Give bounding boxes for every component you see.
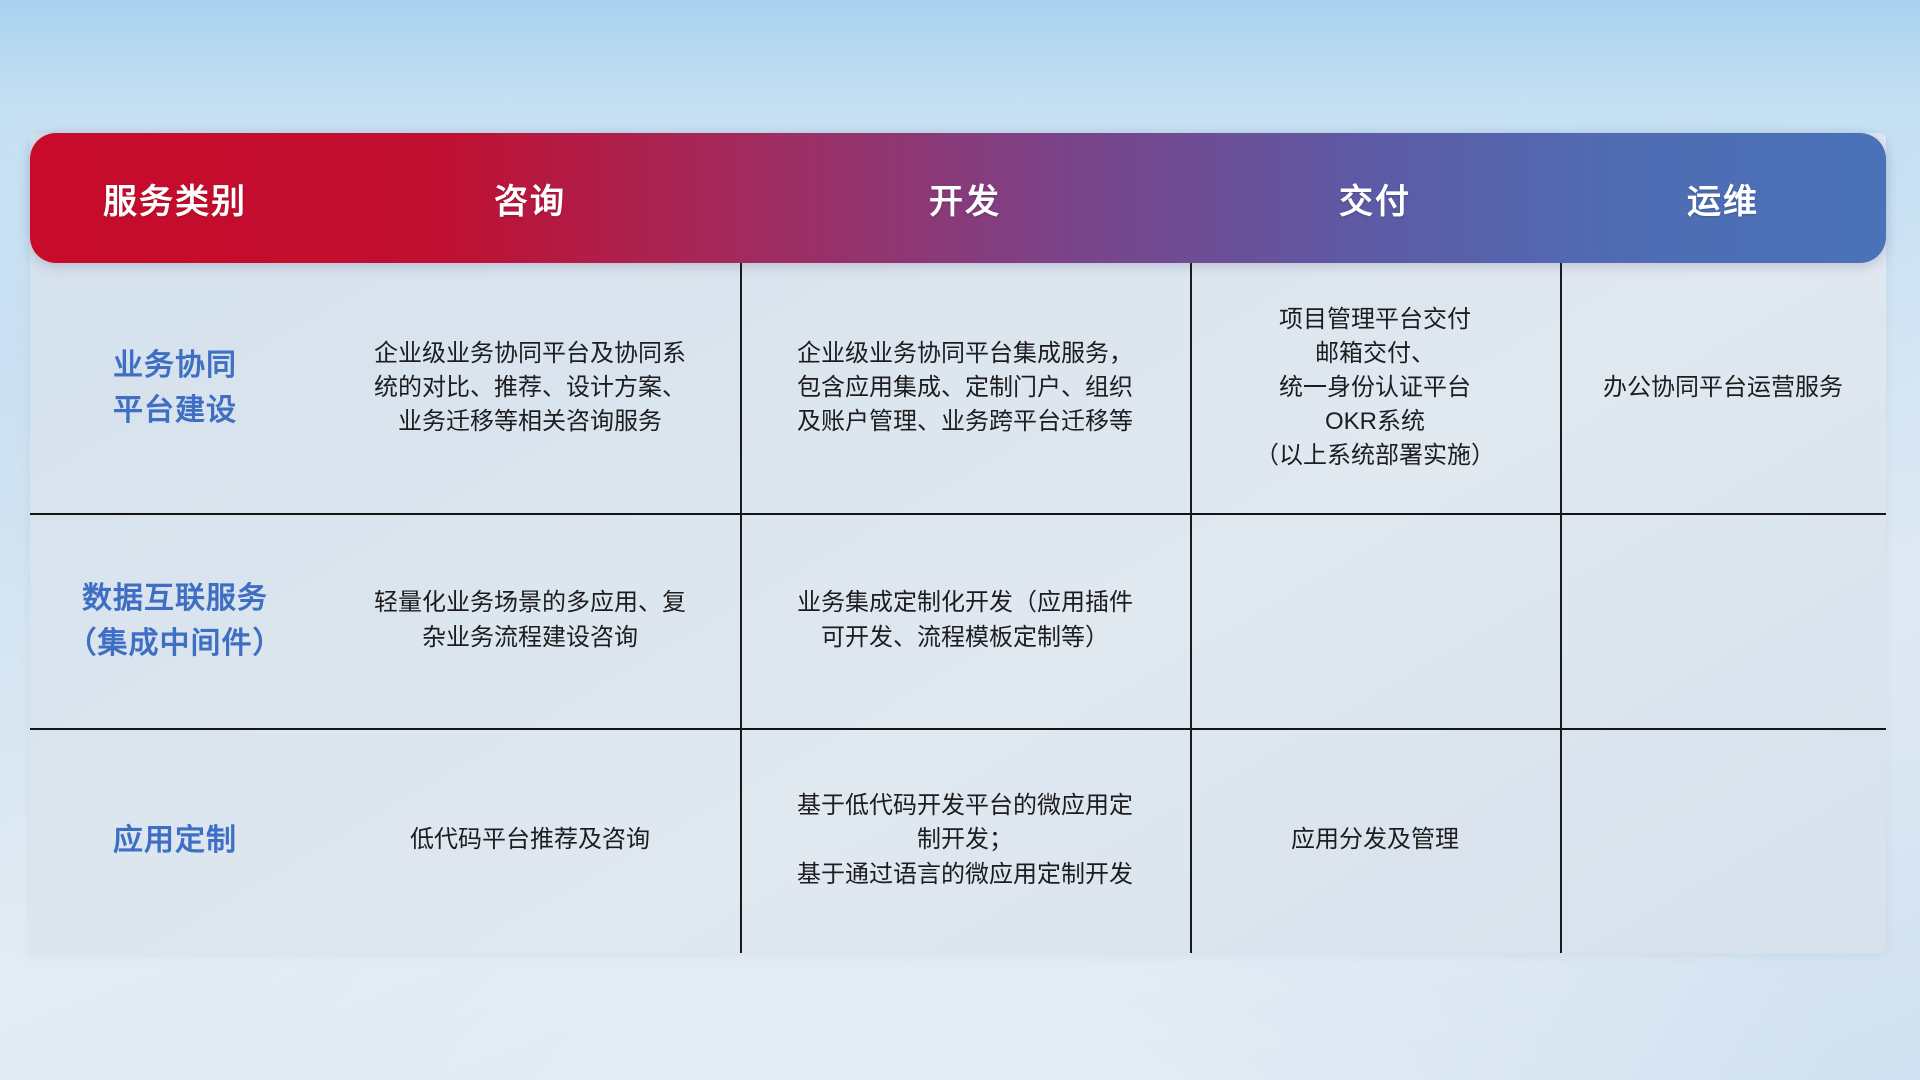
cell-delivery-row2 bbox=[1190, 513, 1560, 728]
row-label-data-integration: 数据互联服务 （集成中间件） bbox=[30, 513, 320, 728]
header-cell-development: 开发 bbox=[740, 174, 1190, 223]
header-cell-operations: 运维 bbox=[1560, 174, 1886, 223]
cell-delivery-row3: 应用分发及管理 bbox=[1190, 728, 1560, 953]
cell-operations-row1: 办公协同平台运营服务 bbox=[1560, 263, 1886, 513]
row-label-business-collaboration: 业务协同 平台建设 bbox=[30, 263, 320, 513]
cell-development-row3: 基于低代码开发平台的微应用定 制开发； 基于通过语言的微应用定制开发 bbox=[740, 728, 1190, 953]
header-cell-delivery: 交付 bbox=[1190, 174, 1560, 223]
table-row: 应用定制 低代码平台推荐及咨询 基于低代码开发平台的微应用定 制开发； 基于通过… bbox=[30, 728, 1886, 953]
row-label-app-customization: 应用定制 bbox=[30, 728, 320, 953]
header-cell-category: 服务类别 bbox=[30, 174, 320, 223]
column-divider-consulting-development bbox=[740, 263, 742, 953]
column-divider-development-delivery bbox=[1190, 263, 1192, 953]
table-body: 业务协同 平台建设 企业级业务协同平台及协同系 统的对比、推荐、设计方案、 业务… bbox=[30, 263, 1886, 953]
table-row: 业务协同 平台建设 企业级业务协同平台及协同系 统的对比、推荐、设计方案、 业务… bbox=[30, 263, 1886, 513]
cell-consulting-row1: 企业级业务协同平台及协同系 统的对比、推荐、设计方案、 业务迁移等相关咨询服务 bbox=[320, 263, 740, 513]
slide-canvas: 服务类别 咨询 开发 交付 运维 业务协同 平台建设 企业级业务协同平台及协同系… bbox=[0, 0, 1920, 1080]
cell-development-row1: 企业级业务协同平台集成服务， 包含应用集成、定制门户、组织 及账户管理、业务跨平… bbox=[740, 263, 1190, 513]
cell-development-row2: 业务集成定制化开发（应用插件 可开发、流程模板定制等） bbox=[740, 513, 1190, 728]
cell-consulting-row3: 低代码平台推荐及咨询 bbox=[320, 728, 740, 953]
cell-operations-row3 bbox=[1560, 728, 1886, 953]
cell-operations-row2 bbox=[1560, 513, 1886, 728]
cell-delivery-row1: 项目管理平台交付 邮箱交付、 统一身份认证平台 OKR系统 （以上系统部署实施） bbox=[1190, 263, 1560, 513]
table-header-row: 服务类别 咨询 开发 交付 运维 bbox=[30, 133, 1886, 263]
cell-consulting-row2: 轻量化业务场景的多应用、复 杂业务流程建设咨询 bbox=[320, 513, 740, 728]
column-divider-delivery-operations bbox=[1560, 263, 1562, 953]
header-cell-consulting: 咨询 bbox=[320, 174, 740, 223]
table-row: 数据互联服务 （集成中间件） 轻量化业务场景的多应用、复 杂业务流程建设咨询 业… bbox=[30, 513, 1886, 728]
